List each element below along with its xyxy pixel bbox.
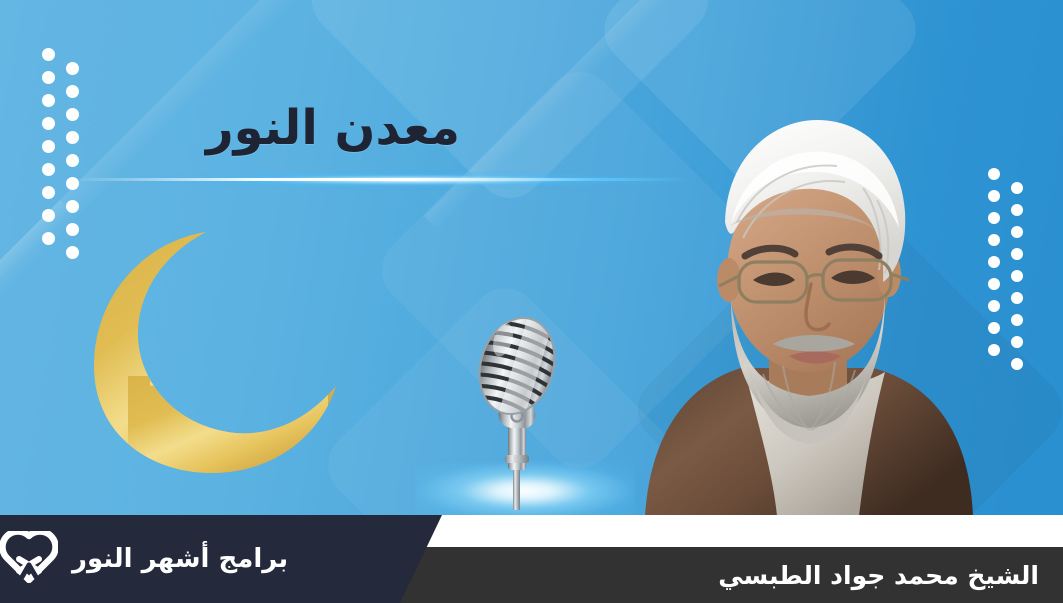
dot [988,190,1000,202]
dot [1011,226,1023,238]
dot [1011,182,1023,194]
brand-block[interactable]: برامج أشهر النور [0,515,330,603]
dot [988,212,1000,224]
page-title: معدن النور [206,100,460,156]
dot [988,256,1000,268]
dot [1011,336,1023,348]
vintage-microphone-icon [455,310,585,515]
dot-column-b [66,62,79,259]
dot [988,234,1000,246]
dot [42,48,55,61]
dot [42,117,55,130]
dot-column-decoration-right [988,168,1023,370]
dot [42,232,55,245]
dot [42,94,55,107]
light-streak-core [70,178,690,181]
dot [42,140,55,153]
dot [1011,204,1023,216]
dot [66,223,79,236]
dot [66,85,79,98]
dot [988,344,1000,356]
dot-column-decoration-left [42,48,79,259]
dot [42,186,55,199]
dot [66,131,79,144]
crescent-moon-mosque-icon [88,228,360,476]
heart-infinity-logo-icon [0,531,58,587]
dot-column-b [1011,182,1023,370]
dot [1011,270,1023,282]
dot [66,200,79,213]
dot [988,168,1000,180]
dot [988,300,1000,312]
cleric-portrait-photo [633,104,981,516]
banner-canvas: معدن النور [0,0,1063,603]
dot [66,108,79,121]
dot [66,154,79,167]
speaker-block: الشيخ محمد جواد الطبسي [718,547,1039,603]
speaker-name: الشيخ محمد جواد الطبسي [718,561,1039,590]
dot [1011,248,1023,260]
dot-column-a [42,48,55,259]
dot [66,62,79,75]
dot [1011,314,1023,326]
dot [42,163,55,176]
dot [42,209,55,222]
dot [42,71,55,84]
dot [988,322,1000,334]
dot-column-a [988,168,1000,370]
dot [66,246,79,259]
dot [988,278,1000,290]
dot [1011,358,1023,370]
brand-label: برامج أشهر النور [72,544,288,574]
dot [1011,292,1023,304]
